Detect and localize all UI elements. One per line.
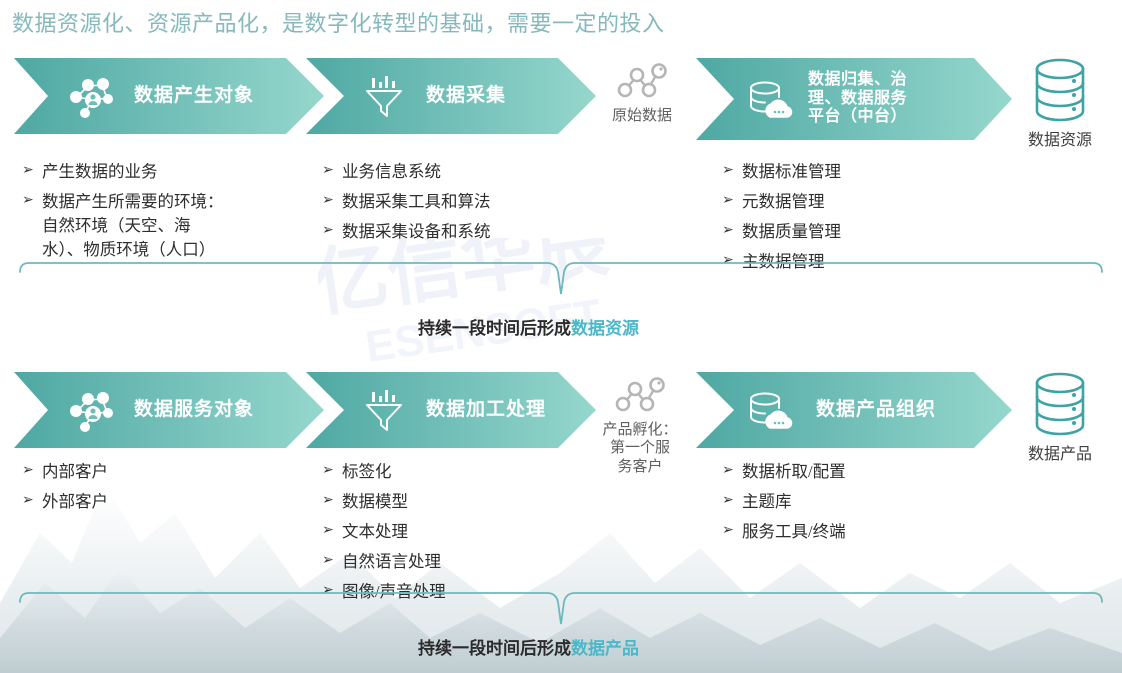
caption-data-resource: 持续一段时间后形成数据资源 xyxy=(418,314,639,339)
cloud-database-icon xyxy=(742,73,794,125)
bullet-marker-icon: ➢ xyxy=(22,460,42,482)
bullet-marker-icon: ➢ xyxy=(22,190,42,212)
list-item-text: 自然语言处理 xyxy=(342,550,441,574)
list-item: ➢ 数据产生所需要的环境： 自然环境（天空、海 水）、物质环境（人口） xyxy=(22,190,312,262)
diagram-canvas: 数据资源化、资源产品化，是数字化转型的基础，需要一定的投入 xyxy=(0,0,1122,673)
bullet-marker-icon: ➢ xyxy=(322,490,342,512)
cloud-database-icon xyxy=(742,384,794,436)
graph-nodes-icon xyxy=(613,374,667,418)
bullet-marker-icon: ➢ xyxy=(722,490,742,512)
list-item: ➢ 标签化 xyxy=(322,460,592,484)
step-chevron-data-processing[interactable]: 数据加工处理 xyxy=(306,372,596,448)
list-item: ➢ 数据模型 xyxy=(322,490,592,514)
database-stack-icon xyxy=(1029,56,1091,124)
list-item-text: 数据产生所需要的环境： 自然环境（天空、海 水）、物质环境（人口） xyxy=(42,190,224,262)
list-item-text: 数据采集设备和系统 xyxy=(342,220,491,244)
bullet-marker-icon: ➢ xyxy=(22,160,42,182)
list-item: ➢ 数据采集工具和算法 xyxy=(322,190,592,214)
caption-data-product: 持续一段时间后形成数据产品 xyxy=(418,634,639,659)
bullet-list-data-product-org: ➢ 数据析取/配置 ➢ 主题库 ➢ 服务工具/终端 xyxy=(722,460,1002,550)
bullet-marker-icon: ➢ xyxy=(722,190,742,212)
list-item: ➢ 外部客户 xyxy=(22,490,292,514)
brace-data-product xyxy=(16,592,1106,640)
list-item: ➢ 服务工具/终端 xyxy=(722,520,1002,544)
midnode-label: 产品孵化： 第一个服 务客户 xyxy=(584,421,696,476)
bullet-marker-icon: ➢ xyxy=(22,490,42,512)
step-chevron-data-source-objects[interactable]: 数据产生对象 xyxy=(14,58,324,134)
step-chevron-data-platform[interactable]: 数据归集、治 理、数据服务 平台（中台） xyxy=(696,58,1012,140)
database-stack-icon xyxy=(1029,370,1091,438)
chevron-label: 数据产品组织 xyxy=(816,399,936,421)
list-item: ➢ 业务信息系统 xyxy=(322,160,592,184)
brace-data-resource xyxy=(16,262,1106,310)
bullet-marker-icon: ➢ xyxy=(322,550,342,572)
bullet-marker-icon: ➢ xyxy=(322,520,342,542)
list-item-text: 业务信息系统 xyxy=(342,160,441,184)
bullet-marker-icon: ➢ xyxy=(322,460,342,482)
bullet-marker-icon: ➢ xyxy=(322,220,342,242)
list-item: ➢ 自然语言处理 xyxy=(322,550,592,574)
list-item-text: 标签化 xyxy=(342,460,392,484)
caption-prefix: 持续一段时间后形成 xyxy=(418,639,571,658)
chevron-label: 数据服务对象 xyxy=(134,399,254,421)
list-item-text: 数据模型 xyxy=(342,490,408,514)
bullet-marker-icon: ➢ xyxy=(322,160,342,182)
endnode-data-resource: 数据资源 xyxy=(1000,56,1120,150)
bullet-list-data-service-objects: ➢ 内部客户 ➢ 外部客户 xyxy=(22,460,292,520)
list-item-text: 数据采集工具和算法 xyxy=(342,190,491,214)
list-item-text: 产生数据的业务 xyxy=(42,160,158,184)
midnode-raw-data: 原始数据 xyxy=(586,60,698,125)
bullet-marker-icon: ➢ xyxy=(722,220,742,242)
endnode-label: 数据产品 xyxy=(1000,440,1120,464)
bullet-list-data-source-objects: ➢ 产生数据的业务 ➢ 数据产生所需要的环境： 自然环境（天空、海 水）、物质环… xyxy=(22,160,312,268)
page-title: 数据资源化、资源产品化，是数字化转型的基础，需要一定的投入 xyxy=(12,6,665,38)
bullet-marker-icon: ➢ xyxy=(722,520,742,542)
list-item-text: 文本处理 xyxy=(342,520,408,544)
chevron-label: 数据加工处理 xyxy=(426,399,546,421)
caption-prefix: 持续一段时间后形成 xyxy=(418,319,571,338)
list-item-text: 数据质量管理 xyxy=(742,220,841,244)
list-item: ➢ 产生数据的业务 xyxy=(22,160,312,184)
list-item-text: 服务工具/终端 xyxy=(742,520,846,544)
bullet-list-data-collection: ➢ 业务信息系统 ➢ 数据采集工具和算法 ➢ 数据采集设备和系统 xyxy=(322,160,592,250)
list-item: ➢ 数据质量管理 xyxy=(722,220,1002,244)
bullet-marker-icon: ➢ xyxy=(722,160,742,182)
chevron-label: 数据采集 xyxy=(426,85,506,107)
list-item-text: 数据标准管理 xyxy=(742,160,841,184)
list-item-text: 元数据管理 xyxy=(742,190,825,214)
list-item-text: 内部客户 xyxy=(42,460,108,484)
list-item-text: 主题库 xyxy=(742,490,792,514)
list-item: ➢ 数据采集设备和系统 xyxy=(322,220,592,244)
funnel-data-icon xyxy=(358,384,410,436)
list-item: ➢ 数据标准管理 xyxy=(722,160,1002,184)
step-chevron-data-collection[interactable]: 数据采集 xyxy=(306,58,596,134)
bullet-marker-icon: ➢ xyxy=(722,460,742,482)
caption-highlight: 数据资源 xyxy=(571,319,639,338)
chevron-label: 数据归集、治 理、数据服务 平台（中台） xyxy=(808,71,907,128)
people-network-icon xyxy=(66,70,118,122)
list-item: ➢ 元数据管理 xyxy=(722,190,1002,214)
chevron-label: 数据产生对象 xyxy=(134,85,254,107)
graph-nodes-icon xyxy=(615,60,669,104)
list-item: ➢ 数据析取/配置 xyxy=(722,460,1002,484)
list-item: ➢ 文本处理 xyxy=(322,520,592,544)
caption-highlight: 数据产品 xyxy=(571,639,639,658)
people-network-icon xyxy=(66,384,118,436)
list-item-text: 外部客户 xyxy=(42,490,108,514)
bullet-list-data-processing: ➢ 标签化 ➢ 数据模型 ➢ 文本处理 ➢ 自然语言处理 ➢ 图像/声音处理 xyxy=(322,460,592,610)
endnode-label: 数据资源 xyxy=(1000,126,1120,150)
funnel-data-icon xyxy=(358,70,410,122)
step-chevron-data-product-org[interactable]: 数据产品组织 xyxy=(696,372,1012,448)
list-item: ➢ 内部客户 xyxy=(22,460,292,484)
midnode-product-incubation: 产品孵化： 第一个服 务客户 xyxy=(584,374,696,476)
midnode-label: 原始数据 xyxy=(586,107,698,125)
bullet-marker-icon: ➢ xyxy=(322,190,342,212)
endnode-data-product: 数据产品 xyxy=(1000,370,1120,464)
list-item: ➢ 主题库 xyxy=(722,490,1002,514)
list-item-text: 数据析取/配置 xyxy=(742,460,846,484)
step-chevron-data-service-objects[interactable]: 数据服务对象 xyxy=(14,372,324,448)
